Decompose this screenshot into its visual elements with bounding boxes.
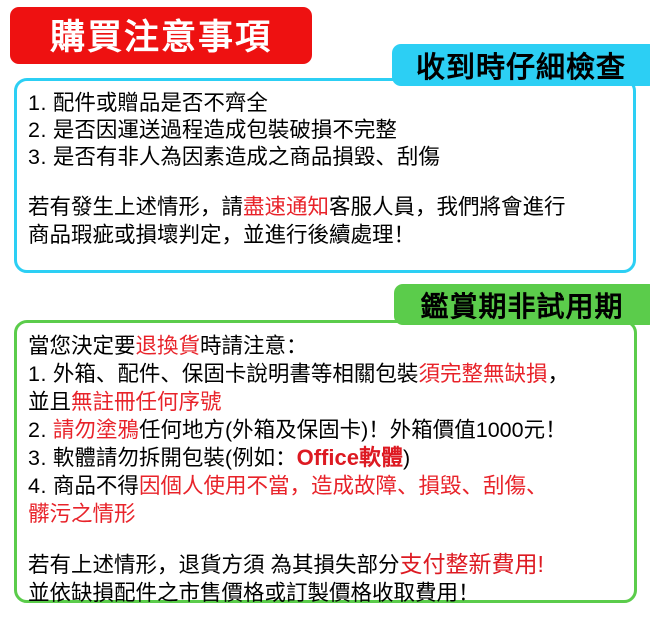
return-item-1-part-2: ， — [547, 362, 569, 386]
return-item-4-line-1: 4. 商品不得因個人使用不當，造成故障、損毀、刮傷、 — [28, 472, 624, 500]
return-item-1-part-1: 外箱、配件、保固卡說明書等相關包裝 — [53, 362, 419, 386]
return-footer-line-1: 若有上述情形，退貨方須 為其損失部分支付整新費用! — [28, 550, 624, 579]
return-footer-part-1: 若有上述情形，退貨方須 為其損失部分 — [28, 553, 399, 577]
return-item-1-line-2-emphasis: 無註冊任何序號 — [71, 390, 222, 414]
inspection-item-3-text: 是否有非人為因素造成之商品損毀、刮傷 — [53, 145, 440, 169]
return-item-2-emphasis-1: 請勿塗鴉 — [53, 418, 139, 442]
return-item-1-line-2-part-1: 並且 — [28, 390, 71, 414]
return-item-1-number: 1. — [28, 362, 47, 386]
main-title-banner: 購買注意事項 — [10, 7, 312, 64]
inspection-item-2-text: 是否因運送過程造成包裝破損不完整 — [53, 118, 397, 142]
return-footer-line-2: 並依缺損配件之市售價格或訂製價格收取費用！ — [28, 579, 624, 607]
inspection-content: 1. 配件或贈品是否不齊全 2. 是否因運送過程造成包裝破損不完整 3. 是否有… — [17, 81, 633, 249]
inspection-note-part-2: 客服人員，我們將會進行 — [329, 195, 566, 219]
inspection-note-line-2: 商品瑕疵或損壞判定，並進行後續處理！ — [28, 221, 623, 249]
return-policy-box: 當您決定要退換貨時請注意： 1. 外箱、配件、保固卡說明書等相關包裝須完整無缺損… — [14, 320, 637, 603]
return-item-4-emphasis-1: 因個人使用不當，造成故障、損毀、刮傷、 — [139, 474, 548, 498]
inspection-box: 1. 配件或贈品是否不齊全 2. 是否因運送過程造成包裝破損不完整 3. 是否有… — [14, 78, 636, 273]
return-item-3-part-1: 軟體請勿拆開包裝(例如： — [53, 446, 297, 470]
return-item-4-line-2: 髒污之情形 — [28, 500, 624, 528]
return-item-4-number: 4. — [28, 474, 47, 498]
inspection-item-2-number: 2. — [28, 118, 47, 142]
inspection-item-1-text: 配件或贈品是否不齊全 — [53, 91, 268, 115]
return-intro-part-2: 時請注意： — [200, 334, 308, 358]
inspection-spacer — [28, 171, 623, 193]
return-spacer — [28, 528, 624, 550]
inspection-note-line-1: 若有發生上述情形，請盡速通知客服人員，我們將會進行 — [28, 193, 623, 221]
return-item-2-part-1: 任何地方(外箱及保固卡)！外箱價值1000元！ — [139, 418, 567, 442]
return-item-1-line-1: 1. 外箱、配件、保固卡說明書等相關包裝須完整無缺損， — [28, 360, 624, 388]
return-item-3-number: 3. — [28, 446, 47, 470]
return-item-1-emphasis-1: 須完整無缺損 — [418, 362, 547, 386]
inspection-note-part-1: 若有發生上述情形，請 — [28, 195, 243, 219]
return-intro-part-1: 當您決定要 — [28, 334, 136, 358]
return-item-3-emphasis-1: Office軟體 — [297, 445, 403, 470]
return-item-2-number: 2. — [28, 418, 47, 442]
inspection-item-1: 1. 配件或贈品是否不齊全 — [28, 90, 623, 117]
return-footer-emphasis: 支付整新費用! — [399, 551, 543, 577]
return-item-4-part-1: 商品不得 — [53, 474, 139, 498]
inspection-item-1-number: 1. — [28, 91, 47, 115]
return-item-3: 3. 軟體請勿拆開包裝(例如：Office軟體) — [28, 444, 624, 472]
return-item-3-part-2: ) — [403, 446, 410, 470]
return-policy-content: 當您決定要退換貨時請注意： 1. 外箱、配件、保固卡說明書等相關包裝須完整無缺損… — [17, 323, 634, 607]
return-item-4-line-2-emphasis: 髒污之情形 — [28, 502, 136, 526]
trial-period-title-banner: 鑑賞期非試用期 — [394, 284, 650, 325]
return-intro: 當您決定要退換貨時請注意： — [28, 332, 624, 360]
inspection-item-3: 3. 是否有非人為因素造成之商品損毀、刮傷 — [28, 144, 623, 171]
inspection-title-banner: 收到時仔細檢查 — [392, 44, 650, 86]
return-intro-emphasis: 退換貨 — [136, 334, 201, 358]
inspection-note-emphasis: 盡速通知 — [243, 195, 329, 219]
return-item-1-line-2: 並且無註冊任何序號 — [28, 388, 624, 416]
return-item-2: 2. 請勿塗鴉任何地方(外箱及保固卡)！外箱價值1000元！ — [28, 416, 624, 444]
inspection-item-2: 2. 是否因運送過程造成包裝破損不完整 — [28, 117, 623, 144]
inspection-item-3-number: 3. — [28, 145, 47, 169]
notice-page: 1. 配件或贈品是否不齊全 2. 是否因運送過程造成包裝破損不完整 3. 是否有… — [0, 0, 650, 622]
